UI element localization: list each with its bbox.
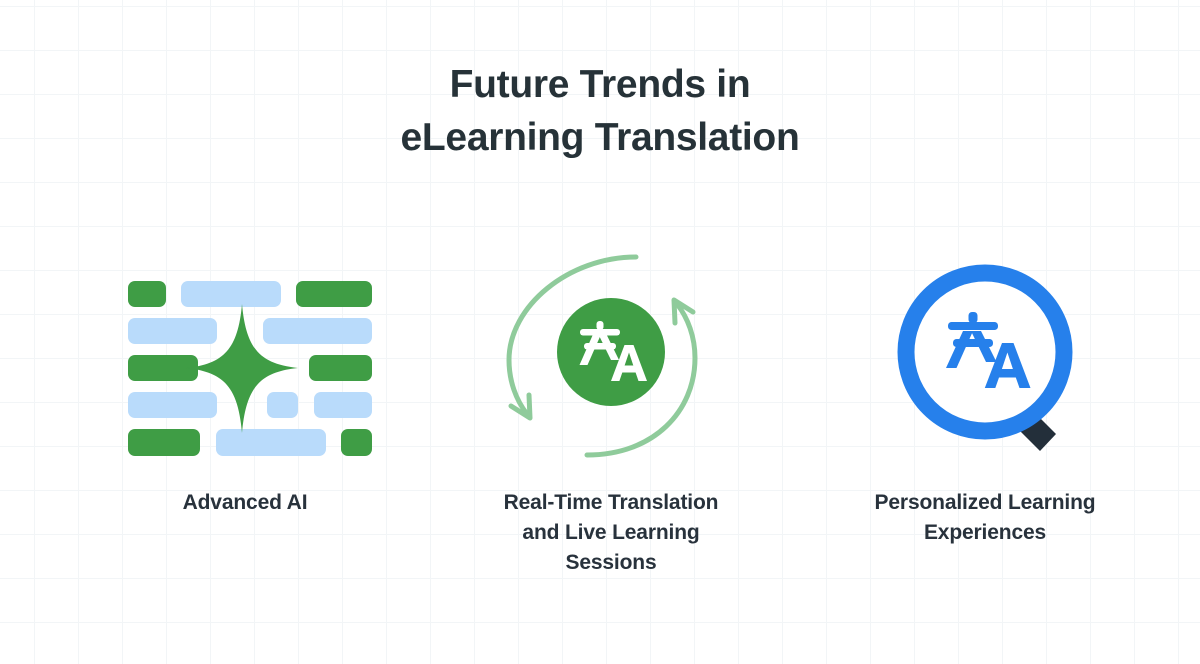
title-line-2: eLearning Translation bbox=[0, 111, 1200, 164]
translate-circle-refresh-icon bbox=[451, 248, 771, 470]
page-title: Future Trends in eLearning Translation bbox=[0, 58, 1200, 164]
feature-column-personalized-learning: Personalized Learning Experiences bbox=[825, 248, 1145, 548]
feature-column-advanced-ai: Advanced AI bbox=[85, 248, 405, 518]
translate-magnifier-icon bbox=[825, 248, 1145, 470]
icon-container-personalized-learning bbox=[825, 248, 1145, 470]
text-rows-sparkle-icon bbox=[85, 248, 405, 470]
caption-personalized-learning: Personalized Learning Experiences bbox=[825, 488, 1145, 548]
feature-column-real-time-translation: Real-Time Translation and Live Learning … bbox=[451, 248, 771, 578]
caption-advanced-ai: Advanced AI bbox=[85, 488, 405, 518]
title-line-1: Future Trends in bbox=[0, 58, 1200, 111]
infographic-canvas: Future Trends in eLearning Translation bbox=[0, 0, 1200, 664]
caption-real-time-translation: Real-Time Translation and Live Learning … bbox=[451, 488, 771, 578]
icon-container-real-time-translation bbox=[451, 248, 771, 470]
icon-container-advanced-ai bbox=[85, 248, 405, 470]
